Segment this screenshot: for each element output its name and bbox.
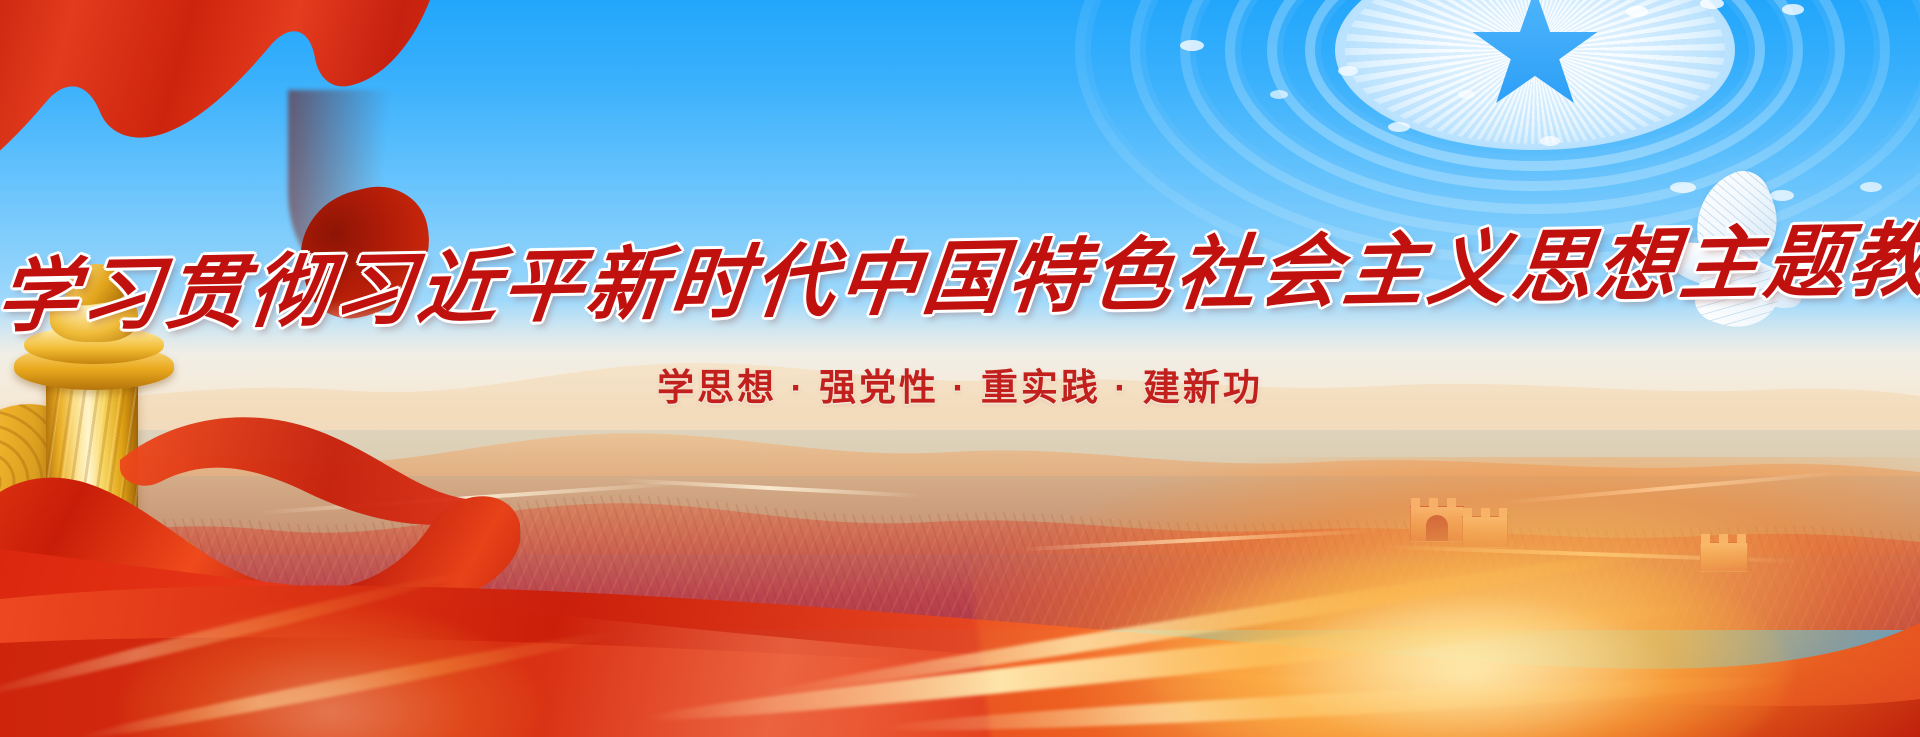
dove-beak [1640,248,1653,256]
sparkle-dot [1626,6,1648,17]
sparkle-dot [1180,40,1204,51]
glow-highlight [120,607,540,737]
golden-light-streaks [0,457,1920,737]
sparkle-dot [1270,90,1288,99]
sparkle-dot [1540,136,1560,146]
sparkle-dot [1782,4,1804,15]
propaganda-banner: 学习贯彻习近平新时代中国特色社会主义思想主题教育 学思想 · 强党性 · 重实践… [0,0,1920,737]
sparkle-dot [1458,90,1475,99]
white-dove-icon [1640,172,1820,332]
sparkle-dot [1860,182,1882,192]
sparkle-dot [1338,66,1358,76]
sparkle-dot [1388,122,1410,132]
